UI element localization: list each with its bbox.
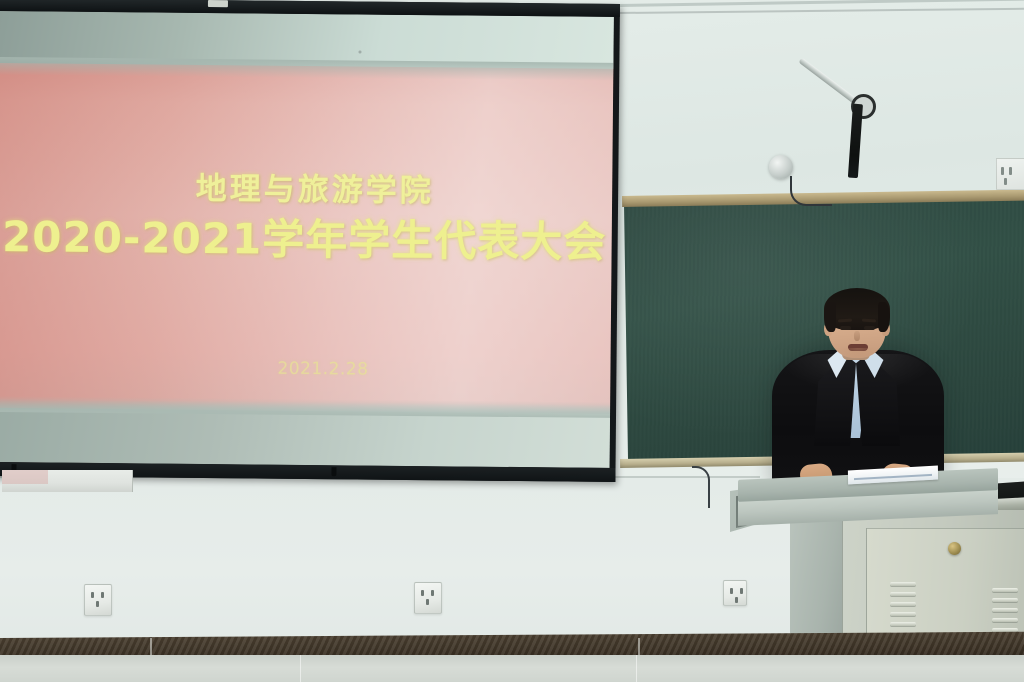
screen-bracket-tint [2,470,48,484]
screen-roller-nub [208,0,228,7]
slide-subtitle: 2020-2021学年学生代表大会 [0,203,612,270]
hair-side-left [824,302,836,332]
outlet-slot [101,592,104,598]
podium-vent-slot [992,608,1018,612]
podium-vent-slot [890,592,916,596]
podium-vent-slot [992,588,1018,592]
chin-shading [840,348,876,360]
eye-right [864,326,875,330]
outlet-slot [1001,167,1004,175]
floor-tile-line [636,655,637,682]
wall-outlet-upper-right[interactable] [996,158,1024,190]
slide-speck [358,50,361,53]
floor [0,655,1024,682]
outlet-slot [91,592,94,598]
outlet-slot [1009,167,1012,175]
hair-side-right [878,302,890,332]
nose [854,331,860,341]
podium-vent-slot [890,602,916,606]
podium-vent-slot [890,582,916,586]
wall-outlet-center[interactable] [414,582,442,614]
eye-left [840,326,851,330]
outlet-slot [421,590,424,596]
podium-vent-slot [992,618,1018,622]
podium-vent-slot [890,612,916,616]
projected-slide: 地理与旅游学院 2020-2021学年学生代表大会 2021.2.28 [0,11,614,468]
outlet-slot [96,601,99,607]
podium-vent-slot [992,598,1018,602]
wall-outlet-left[interactable] [84,584,112,616]
outlet-slot [1004,178,1007,185]
wall-cable [692,466,710,508]
classroom-photo: 地理与旅游学院 2020-2021学年学生代表大会 2021.2.28 [0,0,1024,682]
floor-tile-line [300,655,301,682]
projection-screen: 地理与旅游学院 2020-2021学年学生代表大会 2021.2.28 [0,0,626,486]
outlet-slot [431,590,434,596]
outlet-slot [426,599,429,605]
podium-vent-slot [890,622,916,626]
screen-bottom-nub [331,467,336,476]
podium-lock-icon[interactable] [948,542,961,555]
lamp-power-cable [790,176,832,206]
